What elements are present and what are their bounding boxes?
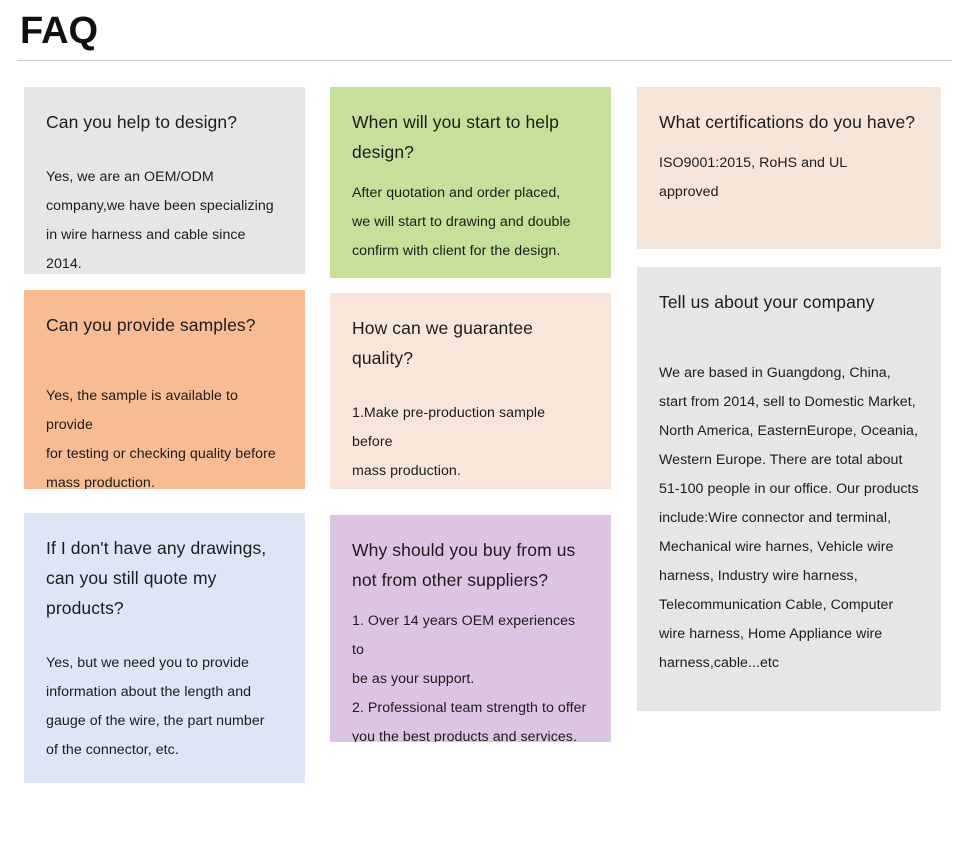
faq-question: How can we guarantee quality? bbox=[352, 313, 589, 373]
faq-card-company: Tell us about your company We are based … bbox=[637, 267, 941, 711]
faq-card-samples: Can you provide samples? Yes, the sample… bbox=[24, 290, 305, 489]
faq-answer: Yes, we are an OEM/ODM company,we have b… bbox=[46, 163, 283, 274]
faq-card-design: Can you help to design? Yes, we are an O… bbox=[24, 87, 305, 274]
faq-question: Can you provide samples? bbox=[46, 310, 283, 340]
faq-card-why-buy-from-us: Why should you buy from us not from othe… bbox=[330, 515, 611, 742]
faq-answer: 1. Over 14 years OEM experiences to be a… bbox=[352, 607, 589, 742]
faq-answer: ISO9001:2015, RoHS and UL approved bbox=[659, 149, 919, 207]
faq-answer: We are based in Guangdong, China, start … bbox=[659, 359, 919, 678]
faq-card-quality: How can we guarantee quality? 1.Make pre… bbox=[330, 293, 611, 489]
faq-question: Tell us about your company bbox=[659, 287, 919, 317]
faq-card-drawings: If I don't have any drawings, can you st… bbox=[24, 513, 305, 783]
faq-card-start-help-design: When will you start to help design? Afte… bbox=[330, 87, 611, 278]
faq-answer: Yes, the sample is available to provide … bbox=[46, 382, 283, 489]
faq-answer: After quotation and order placed, we wil… bbox=[352, 179, 589, 266]
faq-card-board: Can you help to design? Yes, we are an O… bbox=[0, 0, 960, 842]
faq-question: What certifications do you have? bbox=[659, 107, 919, 137]
faq-answer: Yes, but we need you to provide informat… bbox=[46, 649, 283, 765]
faq-question: When will you start to help design? bbox=[352, 107, 589, 167]
faq-question: If I don't have any drawings, can you st… bbox=[46, 533, 283, 623]
faq-answer: 1.Make pre-production sample before mass… bbox=[352, 399, 589, 489]
faq-question: Can you help to design? bbox=[46, 107, 283, 137]
faq-card-certifications: What certifications do you have? ISO9001… bbox=[637, 87, 941, 249]
faq-question: Why should you buy from us not from othe… bbox=[352, 535, 589, 595]
